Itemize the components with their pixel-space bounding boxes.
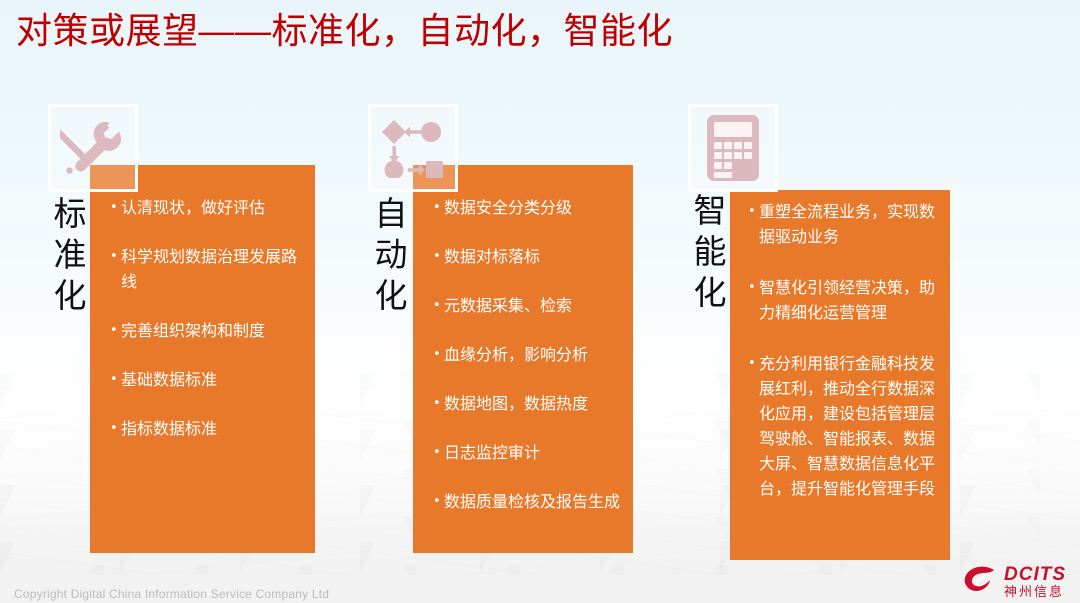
dcits-swirl-mark-icon xyxy=(963,566,997,599)
list-item: 认清现状，做好评估 xyxy=(110,195,303,220)
tools-wrench-screwdriver-icon xyxy=(60,115,126,181)
label-char: 化 xyxy=(690,272,730,313)
list-item: 数据对标落标 xyxy=(433,245,623,269)
label-char: 化 xyxy=(371,275,411,316)
flowchart-icon xyxy=(381,118,445,178)
label-char: 智 xyxy=(690,190,730,231)
label-char: 标 xyxy=(50,193,90,234)
label-char: 能 xyxy=(690,231,730,272)
list-item: 完善组织架构和制度 xyxy=(110,318,303,343)
logo-text-block: DCITS 神州信息 xyxy=(1004,565,1066,599)
label-char: 化 xyxy=(50,275,90,316)
list-item: 重塑全流程业务，实现数据驱动业务 xyxy=(748,199,940,249)
list-item: 日志监控审计 xyxy=(433,441,623,465)
label-char: 动 xyxy=(371,234,411,275)
list-item: 元数据采集、检索 xyxy=(433,294,623,318)
list-item: 数据质量检核及报告生成 xyxy=(433,490,623,514)
slide-canvas: 对策或展望——标准化，自动化，智能化 标 准 化 认清现状，做好评估 科学规划数… xyxy=(0,0,1080,603)
icon-box-automation xyxy=(368,104,458,192)
company-logo: DCITS 神州信息 xyxy=(963,565,1066,599)
list-item: 血缘分析，影响分析 xyxy=(433,343,623,367)
list-item: 智慧化引领经营决策，助力精细化运营管理 xyxy=(748,275,940,325)
column-label-automation: 自 动 化 xyxy=(371,193,411,316)
panel-automation: 数据安全分类分级 数据对标落标 元数据采集、检索 血缘分析，影响分析 数据地图，… xyxy=(413,165,633,553)
list-item: 指标数据标准 xyxy=(110,416,303,441)
icon-box-standardization xyxy=(48,104,138,192)
panel-standardization: 认清现状，做好评估 科学规划数据治理发展路线 完善组织架构和制度 基础数据标准 … xyxy=(90,165,315,553)
panel-intelligence: 重塑全流程业务，实现数据驱动业务 智慧化引领经营决策，助力精细化运营管理 充分利… xyxy=(730,190,950,560)
calculator-icon xyxy=(706,114,760,182)
logo-en-text: DCITS xyxy=(1004,565,1066,584)
copyright-text: Copyright Digital China Information Serv… xyxy=(14,587,329,601)
bullet-list-automation: 数据安全分类分级 数据对标落标 元数据采集、检索 血缘分析，影响分析 数据地图，… xyxy=(413,165,633,514)
list-item: 数据地图，数据热度 xyxy=(433,392,623,416)
list-item: 充分利用银行金融科技发展红利，推动全行数据深化应用，建设包括管理层驾驶舱、智能报… xyxy=(748,351,940,501)
list-item: 基础数据标准 xyxy=(110,367,303,392)
bullet-list-intelligence: 重塑全流程业务，实现数据驱动业务 智慧化引领经营决策，助力精细化运营管理 充分利… xyxy=(730,190,950,501)
list-item: 数据安全分类分级 xyxy=(433,196,623,220)
logo-cn-text: 神州信息 xyxy=(1004,586,1066,599)
list-item: 科学规划数据治理发展路线 xyxy=(110,244,303,294)
column-label-standardization: 标 准 化 xyxy=(50,193,90,316)
label-char: 准 xyxy=(50,234,90,275)
icon-box-intelligence xyxy=(688,104,778,192)
column-label-intelligence: 智 能 化 xyxy=(690,190,730,313)
label-char: 自 xyxy=(371,193,411,234)
bullet-list-standardization: 认清现状，做好评估 科学规划数据治理发展路线 完善组织架构和制度 基础数据标准 … xyxy=(90,165,315,441)
page-title: 对策或展望——标准化，自动化，智能化 xyxy=(16,8,673,53)
